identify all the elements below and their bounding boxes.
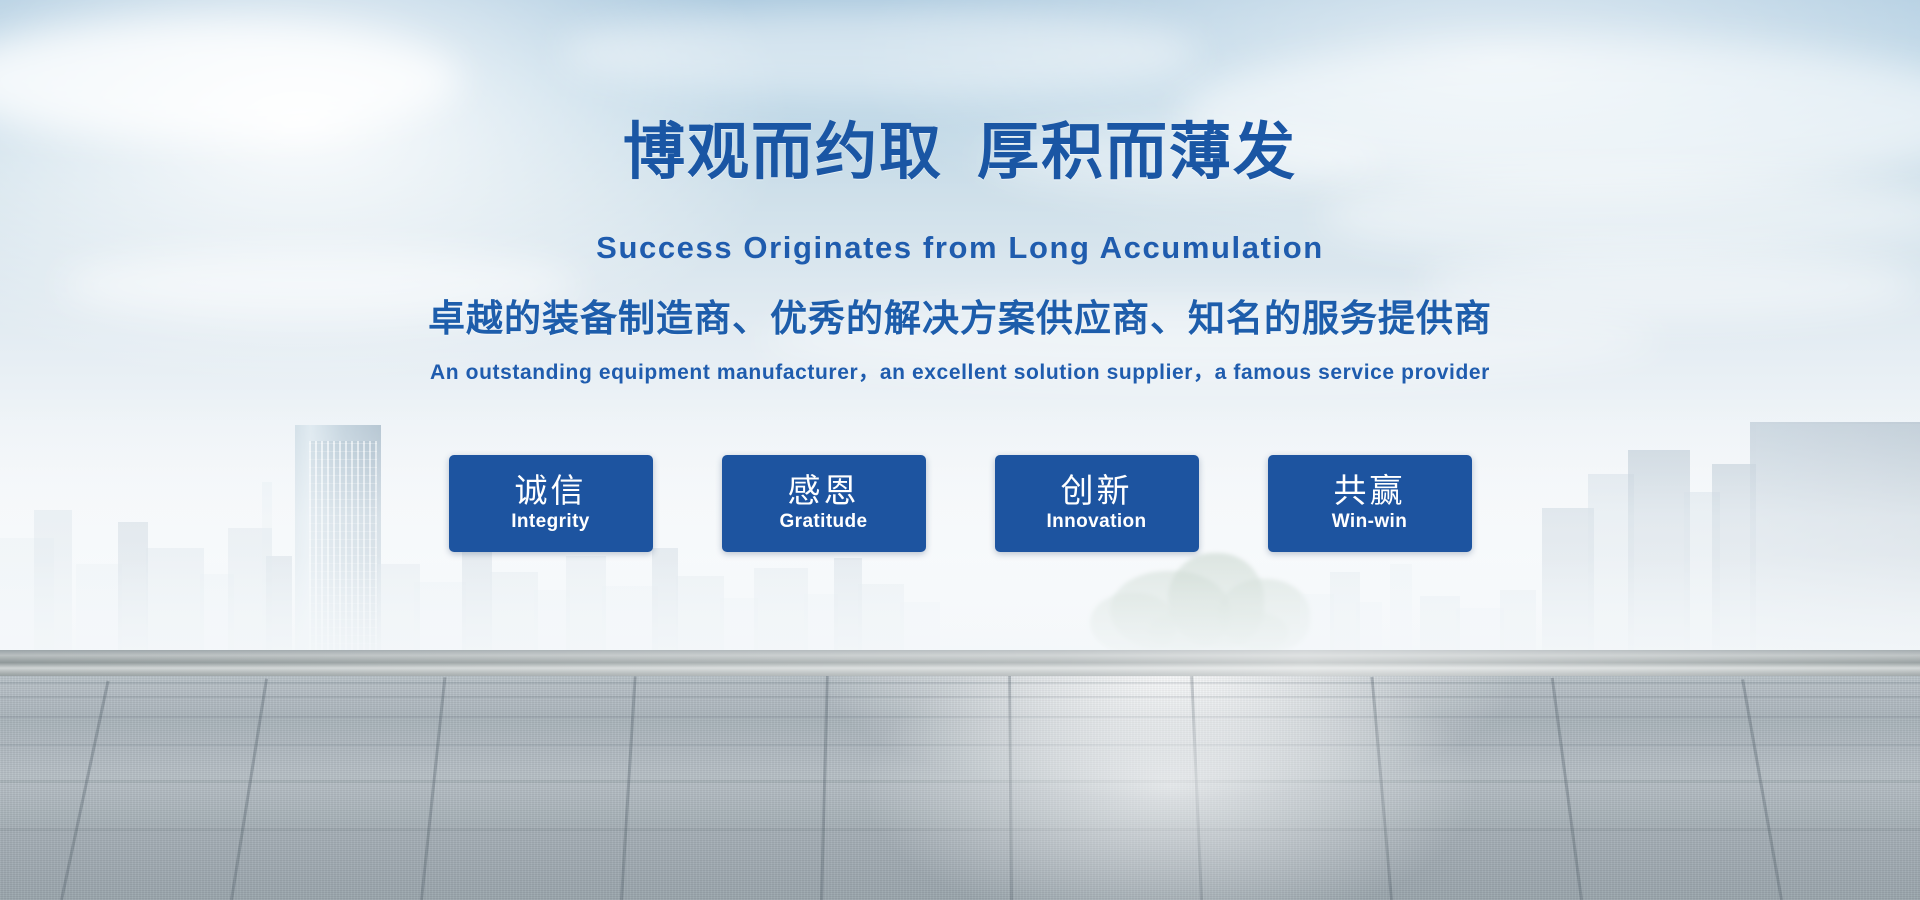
page-title: 博观而约取厚积而薄发: [0, 122, 1920, 184]
value-card-label-en: Integrity: [511, 510, 590, 534]
tagline-en: An outstanding equipment manufacturer，an…: [0, 362, 1920, 383]
headline-zh-first: 博观而约取: [623, 118, 943, 187]
value-card-label-zh: 创新: [1061, 473, 1133, 509]
value-card-gratitude[interactable]: 感恩 Gratitude: [722, 455, 926, 552]
headline-zh-second: 厚积而薄发: [977, 118, 1297, 187]
value-card-integrity[interactable]: 诚信 Integrity: [449, 455, 653, 552]
value-card-label-en: Gratitude: [779, 510, 867, 534]
value-card-label-zh: 共赢: [1334, 473, 1406, 509]
headline-subtitle-en: Success Originates from Long Accumulatio…: [0, 232, 1920, 263]
value-card-label-en: Innovation: [1046, 510, 1146, 534]
value-cards-row: 诚信 Integrity 感恩 Gratitude 创新 Innovation …: [0, 455, 1920, 552]
value-card-innovation[interactable]: 创新 Innovation: [995, 455, 1199, 552]
banner-content: 博观而约取厚积而薄发 Success Originates from Long …: [0, 0, 1920, 900]
tagline-zh: 卓越的装备制造商、优秀的解决方案供应商、知名的服务提供商: [0, 300, 1920, 337]
value-card-label-en: Win-win: [1332, 510, 1407, 534]
value-card-win-win[interactable]: 共赢 Win-win: [1268, 455, 1472, 552]
value-card-label-zh: 诚信: [515, 473, 587, 509]
value-card-label-zh: 感恩: [788, 473, 860, 509]
hero-banner: 博观而约取厚积而薄发 Success Originates from Long …: [0, 0, 1920, 900]
